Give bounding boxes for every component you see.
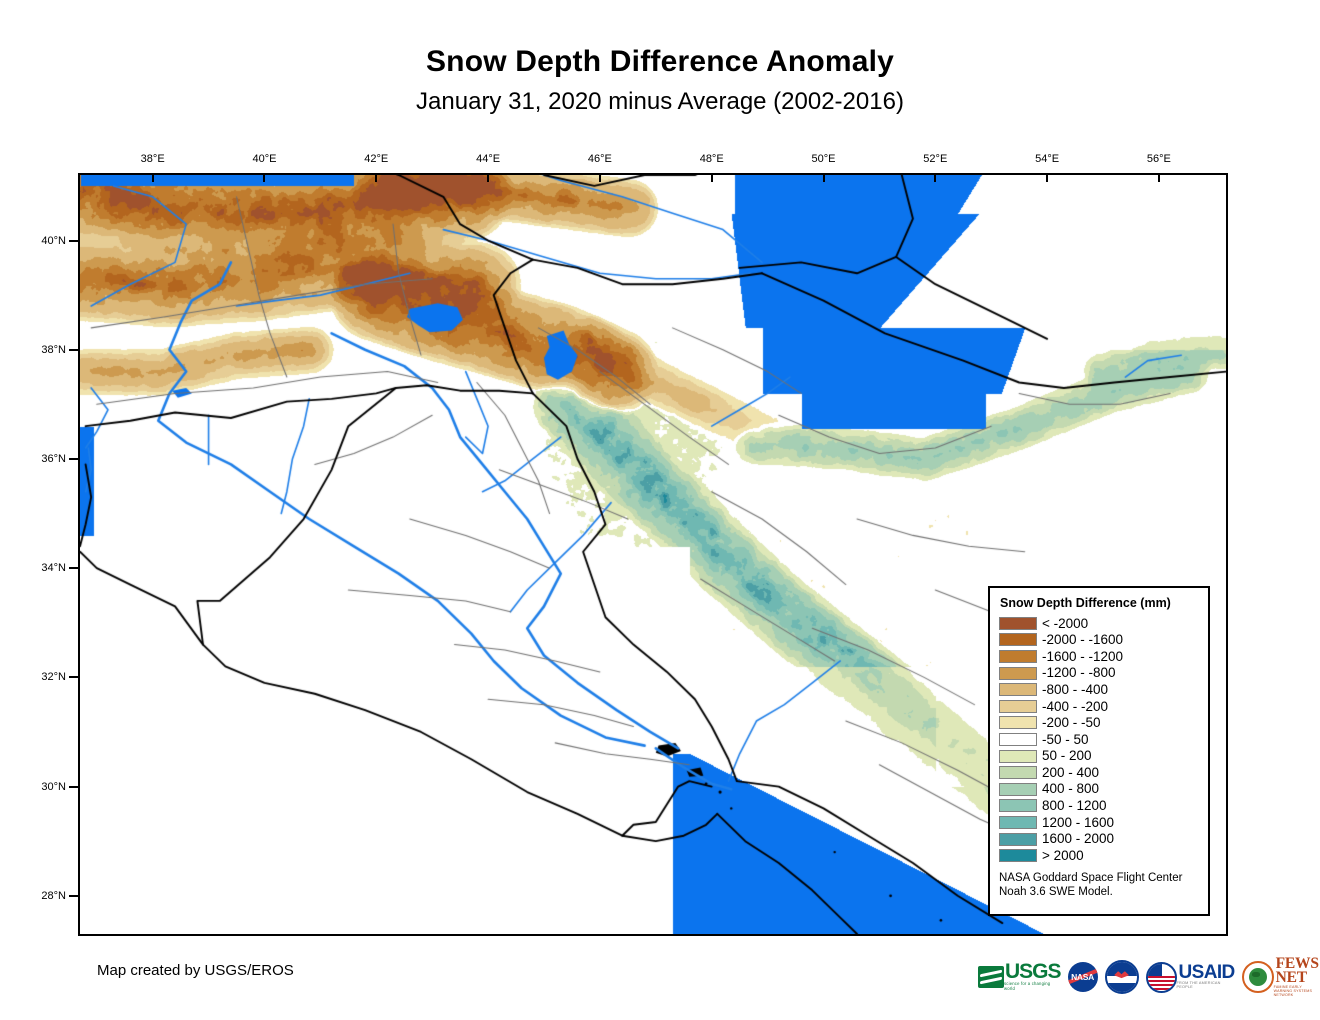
nasa-logo-text: NASA xyxy=(1071,972,1094,982)
latitude-tick xyxy=(69,240,78,242)
legend-row: -400 - -200 xyxy=(999,698,1199,715)
longitude-tick xyxy=(1046,173,1048,182)
usaid-logo: USAID FROM THE AMERICAN PEOPLE xyxy=(1146,960,1235,994)
legend-note-line-2: Noah 3.6 SWE Model. xyxy=(999,885,1199,899)
legend-label: -50 - 50 xyxy=(1042,733,1089,747)
legend-label: -200 - -50 xyxy=(1042,716,1101,730)
fews-globe-shape xyxy=(1249,968,1267,986)
latitude-label: 38°N xyxy=(24,344,66,356)
fews-logo-text: FEWS NET xyxy=(1276,957,1320,985)
legend-swatch xyxy=(999,849,1037,862)
longitude-tick xyxy=(1158,173,1160,182)
legend-swatch xyxy=(999,667,1037,680)
latitude-label: 40°N xyxy=(24,235,66,247)
longitude-tick xyxy=(934,173,936,182)
latitude-tick xyxy=(69,676,78,678)
legend-row: 50 - 200 xyxy=(999,748,1199,765)
longitude-label: 38°E xyxy=(141,153,165,165)
latitude-tick xyxy=(69,895,78,897)
legend-row: -200 - -50 xyxy=(999,715,1199,732)
usaid-canton-shape xyxy=(1148,964,1162,977)
legend-swatch xyxy=(999,766,1037,779)
longitude-label: 42°E xyxy=(364,153,388,165)
latitude-tick xyxy=(69,349,78,351)
legend-row: -1200 - -800 xyxy=(999,665,1199,682)
fews-logo-tagline: FAMINE EARLY WARNING SYSTEMS NETWORK xyxy=(1274,985,1320,997)
legend-label: 400 - 800 xyxy=(1042,782,1099,796)
latitude-label: 36°N xyxy=(24,453,66,465)
legend-swatch xyxy=(999,799,1037,812)
legend-title: Snow Depth Difference (mm) xyxy=(1000,596,1199,610)
usgs-logo-text: USGS xyxy=(1005,963,1061,981)
legend-label: 1200 - 1600 xyxy=(1042,816,1114,830)
legend-row: 800 - 1200 xyxy=(999,798,1199,815)
legend-swatch xyxy=(999,650,1037,663)
noaa-sky-shape xyxy=(1107,962,1137,976)
latitude-tick xyxy=(69,786,78,788)
legend-row: < -2000 xyxy=(999,615,1199,632)
legend-swatch xyxy=(999,833,1037,846)
legend-row: -50 - 50 xyxy=(999,731,1199,748)
longitude-tick xyxy=(375,173,377,182)
legend-label: > 2000 xyxy=(1042,849,1084,863)
legend-note-line-1: NASA Goddard Space Flight Center xyxy=(999,871,1199,885)
longitude-label: 48°E xyxy=(700,153,724,165)
longitude-label: 52°E xyxy=(923,153,947,165)
legend-label: -800 - -400 xyxy=(1042,683,1108,697)
legend-row: -2000 - -1600 xyxy=(999,632,1199,649)
longitude-label: 56°E xyxy=(1147,153,1171,165)
longitude-label: 40°E xyxy=(252,153,276,165)
legend-swatch xyxy=(999,716,1037,729)
legend-label: 50 - 200 xyxy=(1042,749,1092,763)
latitude-label: 28°N xyxy=(24,890,66,902)
legend-row: 200 - 400 xyxy=(999,764,1199,781)
usaid-stripes-shape xyxy=(1148,976,1175,990)
map-legend: Snow Depth Difference (mm) < -2000-2000 … xyxy=(988,586,1210,916)
usgs-waves-icon xyxy=(978,966,1004,988)
fews-net-logo: FEWS NET FAMINE EARLY WARNING SYSTEMS NE… xyxy=(1242,960,1320,994)
usgs-logo: USGS science for a changing world xyxy=(978,960,1061,994)
noaa-logo xyxy=(1105,960,1139,994)
usaid-seal-icon xyxy=(1146,962,1177,993)
legend-swatch xyxy=(999,633,1037,646)
latitude-label: 34°N xyxy=(24,562,66,574)
longitude-tick xyxy=(823,173,825,182)
longitude-tick xyxy=(711,173,713,182)
longitude-label: 44°E xyxy=(476,153,500,165)
longitude-tick xyxy=(487,173,489,182)
legend-label: < -2000 xyxy=(1042,617,1088,631)
legend-swatch xyxy=(999,683,1037,696)
page-title: Snow Depth Difference Anomaly xyxy=(0,45,1320,79)
legend-swatch xyxy=(999,617,1037,630)
legend-swatch xyxy=(999,783,1037,796)
legend-row: 1600 - 2000 xyxy=(999,831,1199,848)
longitude-tick xyxy=(599,173,601,182)
legend-row: 400 - 800 xyxy=(999,781,1199,798)
agency-logos: USGS science for a changing world NASA U… xyxy=(978,957,1320,997)
usaid-logo-text: USAID xyxy=(1179,965,1235,981)
longitude-label: 54°E xyxy=(1035,153,1059,165)
longitude-tick xyxy=(152,173,154,182)
latitude-tick xyxy=(69,458,78,460)
legend-swatch xyxy=(999,816,1037,829)
longitude-tick xyxy=(263,173,265,182)
legend-row: -800 - -400 xyxy=(999,681,1199,698)
nasa-logo: NASA xyxy=(1068,960,1098,994)
legend-label: 200 - 400 xyxy=(1042,766,1099,780)
map-credit: Map created by USGS/EROS xyxy=(97,962,294,979)
legend-row: 1200 - 1600 xyxy=(999,814,1199,831)
page-subtitle: January 31, 2020 minus Average (2002-201… xyxy=(0,88,1320,116)
legend-label: -1600 - -1200 xyxy=(1042,650,1123,664)
longitude-label: 46°E xyxy=(588,153,612,165)
longitude-label: 50°E xyxy=(812,153,836,165)
nasa-meatball-icon: NASA xyxy=(1068,962,1098,992)
legend-row: -1600 - -1200 xyxy=(999,648,1199,665)
latitude-label: 32°N xyxy=(24,671,66,683)
legend-swatch xyxy=(999,733,1037,746)
legend-label: -2000 - -1600 xyxy=(1042,633,1123,647)
noaa-sea-shape xyxy=(1107,983,1137,992)
latitude-label: 30°N xyxy=(24,781,66,793)
legend-items: < -2000-2000 - -1600-1600 - -1200-1200 -… xyxy=(999,615,1199,864)
latitude-tick xyxy=(69,567,78,569)
legend-label: 1600 - 2000 xyxy=(1042,832,1114,846)
legend-label: -1200 - -800 xyxy=(1042,666,1116,680)
legend-source-note: NASA Goddard Space Flight Center Noah 3.… xyxy=(999,871,1199,899)
legend-row: > 2000 xyxy=(999,847,1199,864)
noaa-seal-icon xyxy=(1105,960,1139,994)
fews-globe-icon xyxy=(1242,961,1274,993)
legend-swatch xyxy=(999,750,1037,763)
legend-swatch xyxy=(999,700,1037,713)
legend-label: 800 - 1200 xyxy=(1042,799,1107,813)
legend-label: -400 - -200 xyxy=(1042,700,1108,714)
